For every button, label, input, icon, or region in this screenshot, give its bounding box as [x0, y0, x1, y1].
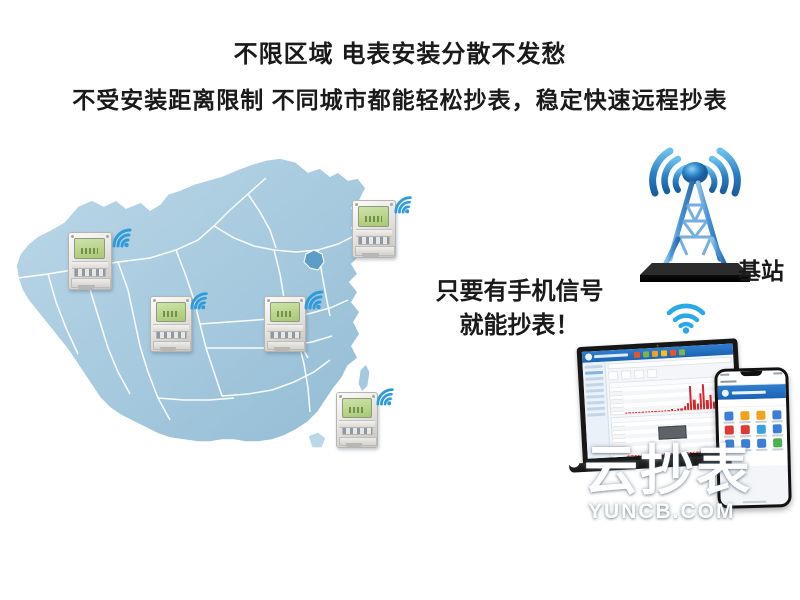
chart-bar — [641, 455, 643, 456]
status-time — [720, 374, 729, 376]
meter-terminal-block — [160, 347, 176, 350]
map-island-hainan — [308, 432, 326, 448]
meter-body — [352, 200, 396, 258]
chart-bar — [664, 410, 666, 411]
chart-bar — [625, 412, 627, 413]
chart-bar — [650, 454, 652, 455]
nav-title — [720, 380, 736, 382]
meter-terminal-block — [362, 253, 379, 256]
app-icon-1[interactable] — [721, 411, 735, 423]
chart-bar — [706, 451, 708, 452]
phone-home-indicator — [743, 501, 767, 504]
meter-digit-strip — [74, 268, 106, 277]
action-button[interactable] — [634, 369, 644, 379]
meter-body — [336, 392, 378, 448]
wifi-arcs-icon — [392, 194, 416, 214]
chart-bar — [702, 384, 706, 409]
sidebar-item[interactable] — [586, 395, 604, 399]
chart-bar — [654, 411, 656, 412]
meter-lcd-screen — [270, 302, 300, 322]
sidebar-item[interactable] — [586, 389, 604, 393]
meter-lcd-screen — [342, 398, 372, 418]
wifi-arcs-icon — [302, 288, 328, 310]
phone-app-title — [732, 390, 766, 394]
chart-bar — [635, 412, 637, 413]
chart-bar — [696, 404, 699, 410]
chart-bar — [634, 455, 636, 456]
wifi-arcs-icon — [110, 226, 136, 248]
meter-screw-right — [106, 235, 109, 238]
toolbar-icon-4[interactable] — [661, 350, 667, 356]
app-icon-6[interactable] — [738, 425, 752, 437]
chart-bar — [687, 403, 690, 411]
wifi-arcs-icon — [188, 290, 212, 310]
phone-app — [714, 367, 792, 509]
center-message-line1: 只要有手机信号 — [412, 275, 627, 309]
sidebar-item[interactable] — [587, 407, 605, 411]
chart-bar — [676, 453, 678, 454]
app-icon-3[interactable] — [753, 411, 767, 423]
chart-bar — [671, 409, 673, 411]
headline-secondary: 不受安装距离限制 不同城市都能轻松抄表，稳定快速远程抄表 — [0, 85, 800, 115]
chart-bar — [644, 454, 646, 455]
electricity-meter-icon — [336, 392, 376, 446]
app-toolbar — [634, 349, 685, 358]
meter-digit-strip — [358, 236, 390, 245]
sidebar-item[interactable] — [585, 377, 603, 381]
chart-bar — [657, 454, 659, 455]
chart-bar — [699, 451, 701, 452]
tower-emitter — [682, 162, 708, 184]
app-icon-13[interactable] — [719, 454, 787, 467]
app-icon-5[interactable] — [722, 425, 736, 437]
chart-bar — [645, 411, 647, 412]
meter-digit-strip — [270, 331, 301, 339]
chart-bar — [629, 412, 631, 413]
app-icon-10[interactable] — [738, 439, 752, 451]
chart-tooltip — [658, 425, 687, 440]
chart-bar — [709, 395, 712, 409]
meter-terminal-block — [346, 443, 362, 446]
chart-bar — [658, 411, 660, 412]
electricity-meter-icon — [264, 296, 304, 350]
meter-digit-strip — [156, 331, 187, 339]
chart-bar — [693, 452, 695, 453]
sidebar-item[interactable] — [587, 401, 605, 405]
app-icon-9[interactable] — [722, 439, 736, 451]
chart-bar — [673, 453, 675, 454]
chart-bar — [654, 454, 656, 455]
phone-notch — [740, 371, 762, 377]
chart-bar — [677, 408, 679, 411]
sidebar-item-selected[interactable] — [585, 371, 603, 375]
sidebar-item[interactable] — [585, 365, 603, 369]
sidebar-item[interactable] — [586, 383, 604, 387]
chart-bar — [693, 400, 696, 410]
meter-lcd-screen — [358, 206, 389, 227]
chart-bar — [667, 410, 669, 411]
action-button[interactable] — [621, 370, 631, 380]
chart-bar — [641, 412, 643, 413]
chart-bar — [648, 411, 650, 412]
app-icon-12[interactable] — [770, 438, 784, 450]
chart-bar — [631, 455, 633, 456]
electricity-meter-icon — [352, 200, 394, 256]
electricity-meter-icon — [68, 232, 110, 288]
meter-terminal-block — [274, 347, 290, 350]
chart-bar — [709, 451, 711, 452]
app-logo-icon — [585, 353, 592, 360]
center-message: 只要有手机信号 就能抄表！ — [412, 275, 627, 343]
meter-body — [150, 296, 192, 352]
app-icon-4[interactable] — [769, 410, 783, 422]
phone-screen — [717, 370, 788, 506]
headline-primary: 不限区域 电表安装分散不发愁 — [0, 40, 800, 70]
chart-bar — [689, 386, 693, 410]
app-icon-11[interactable] — [754, 439, 768, 451]
chart-bar — [712, 450, 714, 451]
toolbar-icon-1[interactable] — [634, 351, 640, 357]
chart-bar — [647, 454, 649, 455]
tower-base-top — [640, 263, 750, 275]
phone-logo-icon — [722, 389, 729, 396]
chart-bar — [663, 453, 665, 454]
webcam-icon — [656, 345, 658, 347]
action-button[interactable] — [608, 371, 618, 381]
chart-bar — [674, 410, 676, 411]
watermark-domain: YUNCB.COM — [588, 500, 736, 524]
chart-bar — [702, 451, 704, 452]
chart-bar — [628, 455, 630, 456]
tower-label: 基站 — [738, 252, 784, 286]
chart-top-y-axis — [610, 388, 624, 415]
chart-bar — [686, 452, 688, 453]
chart-bar — [660, 454, 662, 455]
wifi-arcs-icon — [374, 386, 398, 406]
toolbar-icon-5[interactable] — [670, 349, 676, 355]
chart-bar — [706, 400, 709, 409]
chart-bar — [680, 409, 682, 411]
sidebar-item[interactable] — [587, 413, 605, 417]
app-title — [594, 353, 628, 358]
chart-bar — [689, 452, 691, 453]
phone-icon-grid[interactable] — [718, 406, 787, 456]
toolbar-icon-6[interactable] — [679, 349, 685, 355]
app-icon-8[interactable] — [770, 424, 784, 436]
meter-digit-strip — [342, 427, 373, 435]
meter-terminal-block — [78, 285, 95, 288]
chart-bar — [632, 412, 634, 413]
meter-body — [264, 296, 306, 352]
meter-body — [68, 232, 112, 290]
chart-bar — [651, 411, 653, 412]
chart-bar — [661, 410, 663, 411]
chart-bar — [680, 452, 682, 453]
center-message-line2: 就能抄表！ — [412, 309, 627, 343]
app-icon-7[interactable] — [754, 425, 768, 437]
chart-bar — [638, 412, 640, 413]
chart-bar — [683, 452, 685, 453]
electricity-meter-icon — [150, 296, 190, 350]
action-button[interactable] — [647, 369, 657, 379]
app-icon-2[interactable] — [737, 411, 751, 423]
toolbar-icon-2[interactable] — [643, 351, 649, 357]
chart-bar — [637, 455, 639, 456]
poster-canvas: 不限区域 电表安装分散不发愁 不受安装距离限制 不同城市都能轻松抄表，稳定快速远… — [0, 0, 800, 600]
meter-lcd-screen — [156, 302, 186, 322]
meter-lcd-screen — [74, 238, 105, 259]
chart-bar — [696, 452, 698, 453]
chart-bottom-y-axis — [612, 423, 627, 458]
map-island-taiwan — [358, 364, 370, 392]
status-icons — [773, 372, 782, 374]
toolbar-icon-3[interactable] — [652, 350, 658, 356]
chart-bar — [684, 406, 686, 410]
chart-bar — [667, 453, 669, 454]
wifi-icon — [664, 300, 708, 334]
chart-bar — [670, 453, 672, 454]
